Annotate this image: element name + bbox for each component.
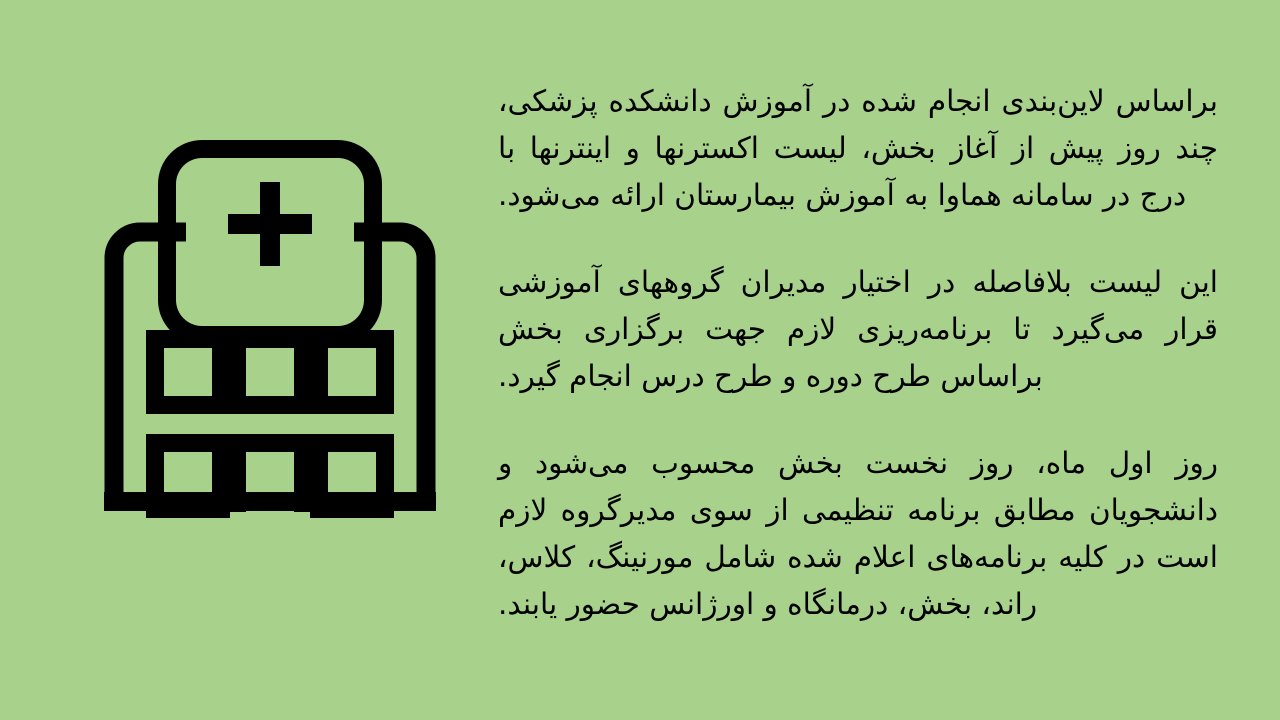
paragraph-3: روز اول ماه، روز نخست بخش محسوب می‌شود و… xyxy=(498,440,1218,628)
hospital-icon-container xyxy=(60,120,480,600)
paragraph-2: این لیست بلافاصله در اختیار مدیران گروهه… xyxy=(498,259,1218,400)
body-text-column: براساس لاین‌بندی انجام شده در آموزش دانش… xyxy=(498,78,1218,628)
paragraph-1: براساس لاین‌بندی انجام شده در آموزش دانش… xyxy=(498,78,1218,219)
slide-canvas: براساس لاین‌بندی انجام شده در آموزش دانش… xyxy=(0,0,1280,720)
hospital-building-icon xyxy=(90,130,450,590)
